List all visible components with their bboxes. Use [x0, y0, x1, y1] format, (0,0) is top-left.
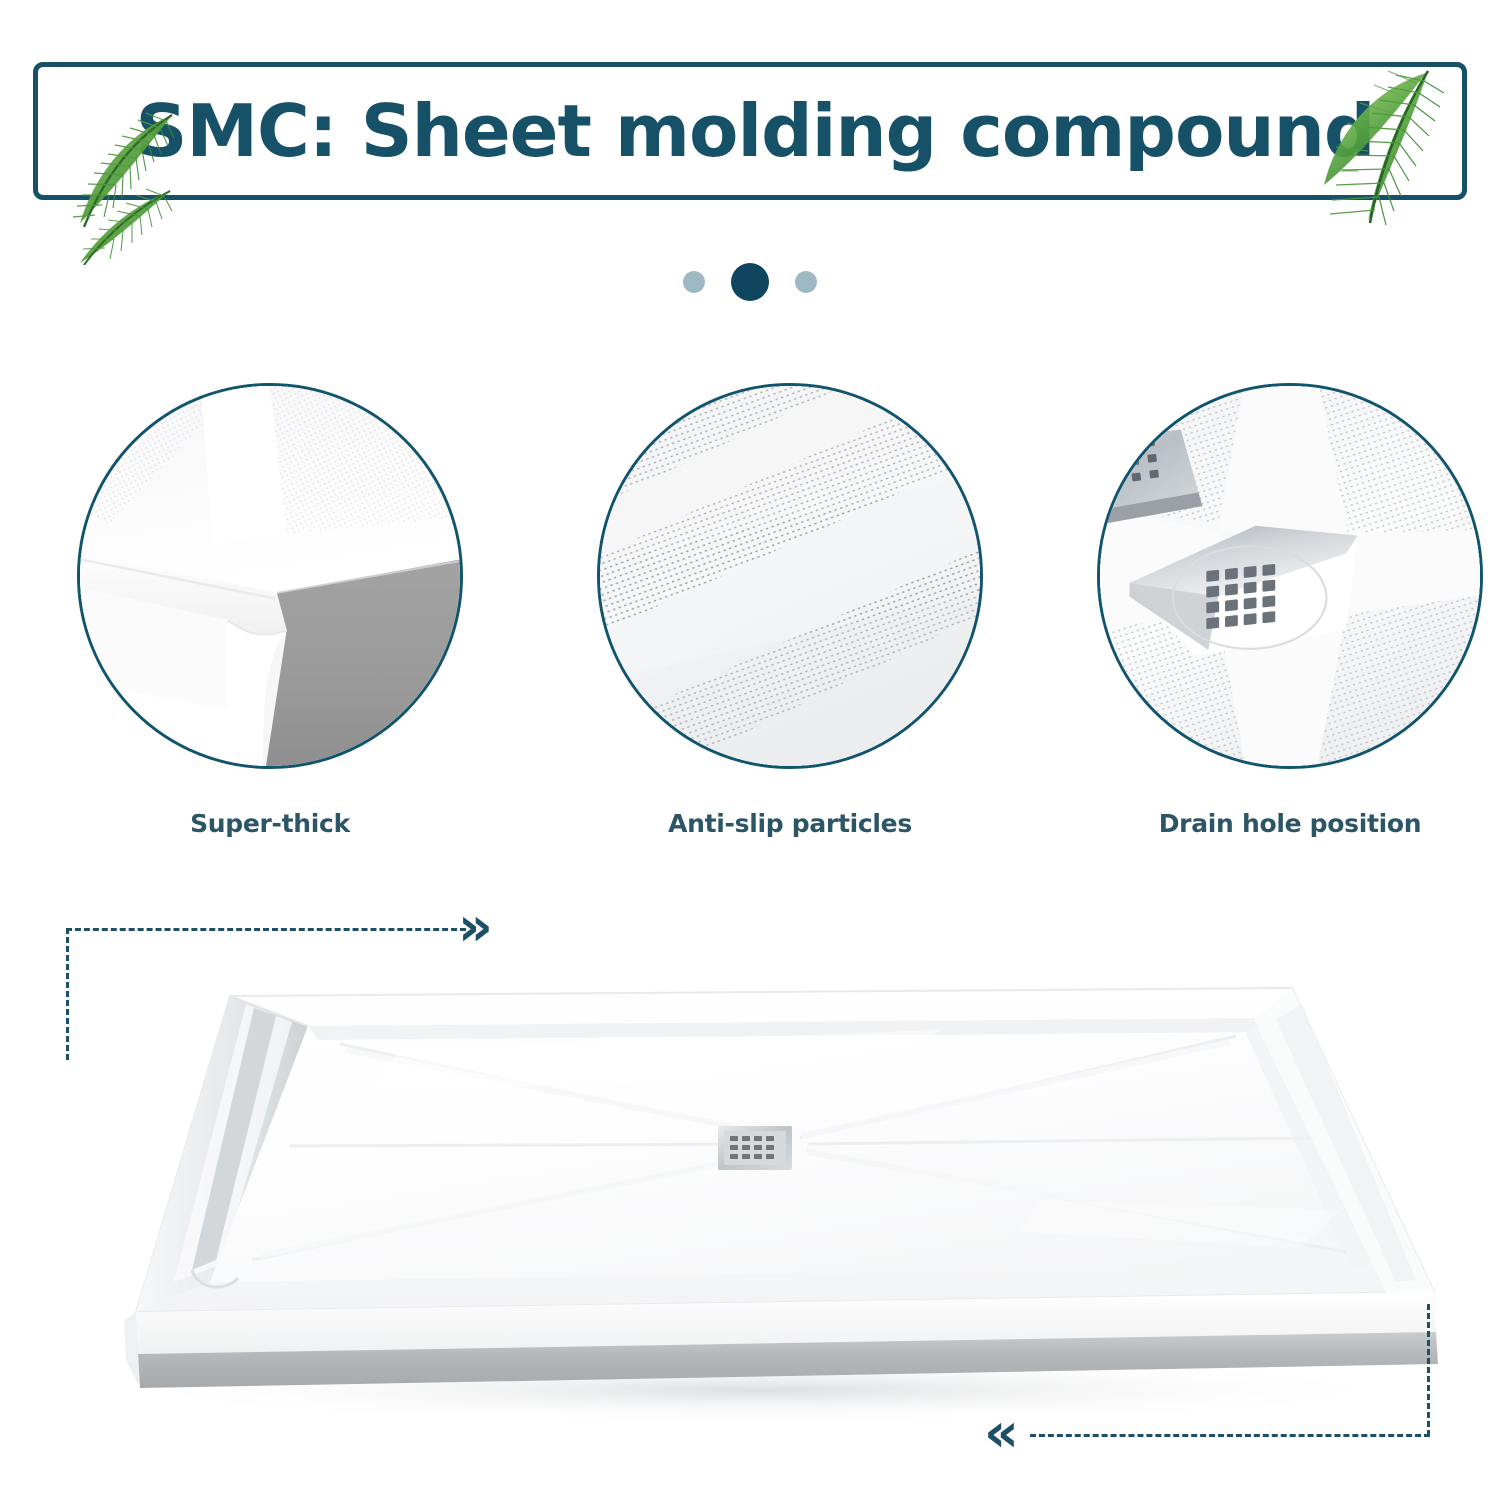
feature-image-drain-hole: [1097, 383, 1483, 769]
feature-item-super-thick: Super-thick: [77, 383, 463, 838]
carousel-dot-2-active[interactable]: [731, 263, 769, 301]
title-banner: SMC: Sheet molding compound: [33, 62, 1467, 200]
dimension-guide-top-horizontal: [66, 928, 466, 931]
chevron-left-icon: «: [984, 1406, 1019, 1460]
anti-slip-texture-closeup-image: [600, 386, 980, 766]
feature-image-anti-slip: [597, 383, 983, 769]
feature-image-super-thick: [77, 383, 463, 769]
carousel-dot-1[interactable]: [683, 271, 705, 293]
shower-base-corner-closeup-image: [80, 386, 460, 766]
feature-caption: Drain hole position: [1097, 809, 1483, 838]
infographic-canvas: SMC: Sheet molding compound: [0, 0, 1500, 1500]
dimension-guide-right-vertical: [1427, 1304, 1430, 1436]
carousel-dots[interactable]: [0, 262, 1500, 302]
feature-item-drain-hole: Drain hole position: [1097, 383, 1483, 838]
drain-hole-closeup-image: [1100, 386, 1480, 766]
dimension-guide-bottom-horizontal: [1030, 1434, 1430, 1437]
square-drain-grate-icon: [718, 1126, 792, 1170]
feature-caption: Anti-slip particles: [597, 809, 983, 838]
feature-highlights: Super-thick: [0, 383, 1500, 853]
shower-base-product-photo: [40, 960, 1460, 1430]
feature-caption: Super-thick: [77, 809, 463, 838]
chevron-right-icon: »: [458, 900, 493, 954]
feature-item-anti-slip: Anti-slip particles: [597, 383, 983, 838]
carousel-dot-3[interactable]: [795, 271, 817, 293]
page-title: SMC: Sheet molding compound: [38, 67, 1472, 195]
